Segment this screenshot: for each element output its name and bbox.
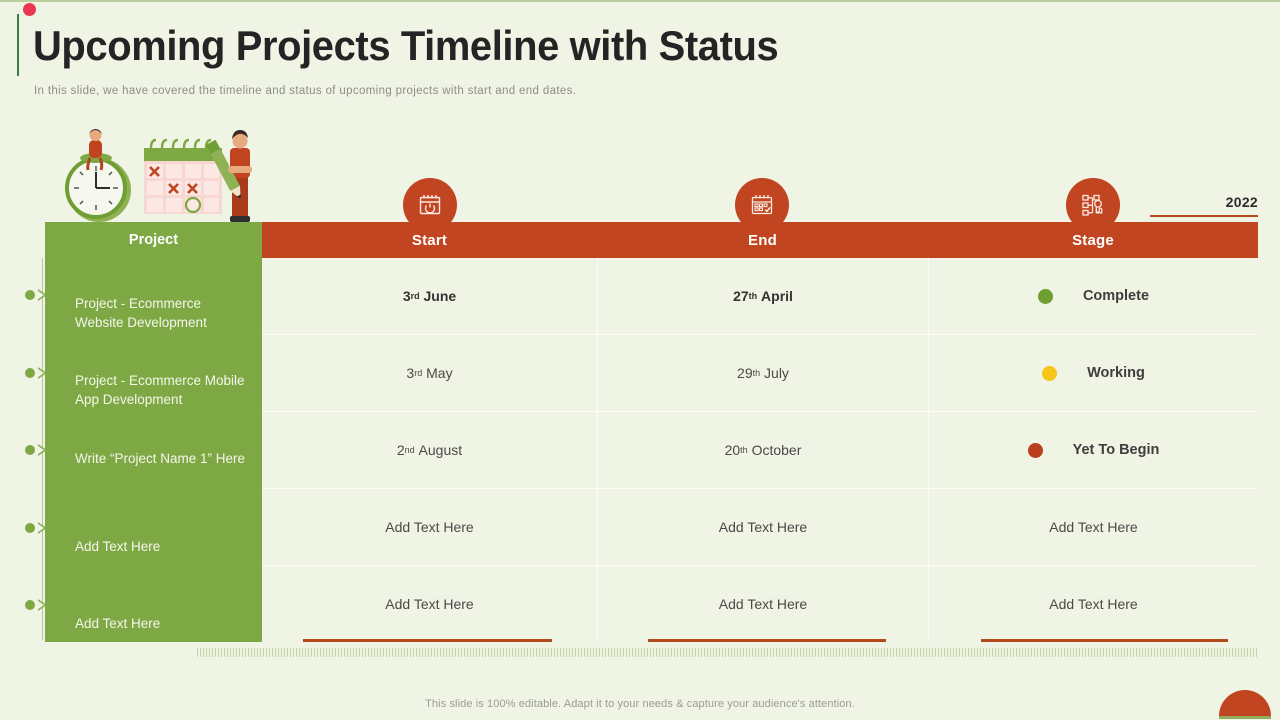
- end-date-cell[interactable]: 29th July: [598, 335, 928, 411]
- start-day: 3: [406, 365, 414, 381]
- column-header-end: End: [597, 222, 928, 258]
- stage-cell[interactable]: Complete: [929, 258, 1258, 334]
- play-triangle-icon: [38, 289, 47, 301]
- timeline-node-dot: [25, 523, 35, 533]
- calendar-clock-people-illustration: [60, 122, 270, 226]
- table-body-grid: 3rd June 3rd May 2nd August Add Text Her…: [262, 258, 1258, 642]
- stage-column-underline: [981, 639, 1228, 642]
- stage-label: Yet To Begin: [1073, 442, 1160, 458]
- timeline-node-dot: [25, 368, 35, 378]
- end-day: 20: [725, 442, 741, 458]
- column-header-project-label: Project: [129, 232, 178, 248]
- project-name-cell[interactable]: Write “Project Name 1” Here: [75, 449, 250, 468]
- start-date-cell[interactable]: Add Text Here: [262, 566, 597, 642]
- status-dot-yet-to-begin: [1028, 443, 1043, 458]
- end-day: 29: [737, 365, 753, 381]
- column-header-project: Project: [45, 222, 262, 259]
- end-column-underline: [648, 639, 886, 642]
- start-month: June: [424, 288, 457, 304]
- status-dot-working: [1042, 366, 1057, 381]
- column-header-end-label: End: [748, 232, 777, 249]
- project-column: Project - Ecommerce Website Development …: [45, 258, 262, 642]
- stage-label: Add Text Here: [1049, 519, 1137, 535]
- end-date-cell[interactable]: 20th October: [598, 412, 928, 488]
- project-name-cell[interactable]: Add Text Here: [75, 537, 250, 556]
- project-name-cell[interactable]: Add Text Here: [75, 614, 250, 633]
- timeline-node[interactable]: [25, 521, 59, 535]
- column-header-start-label: Start: [412, 232, 447, 249]
- top-divider: [0, 0, 1280, 2]
- end-day: 27: [733, 288, 749, 304]
- start-date-cell[interactable]: Add Text Here: [262, 489, 597, 565]
- project-name-cell[interactable]: Project - Ecommerce Website Development: [75, 294, 250, 332]
- column-header-stage-label: Stage: [1072, 232, 1114, 249]
- timeline-node-dot: [25, 600, 35, 610]
- hatched-band: [197, 648, 1258, 657]
- timeline-node-dot: [25, 290, 35, 300]
- footer-note: This slide is 100% editable. Adapt it to…: [0, 698, 1280, 710]
- decorative-dome-base: [1219, 716, 1271, 719]
- stage-cell[interactable]: Add Text Here: [929, 566, 1258, 642]
- status-dot-complete: [1038, 289, 1053, 304]
- end-date-cell[interactable]: 27th April: [598, 258, 928, 334]
- year-label: 2022: [1226, 194, 1258, 210]
- year-underline: [1150, 215, 1258, 217]
- project-name-cell[interactable]: Project - Ecommerce Mobile App Developme…: [75, 371, 250, 409]
- timeline-node[interactable]: [25, 288, 59, 302]
- timeline-node[interactable]: [25, 598, 59, 612]
- stage-cell[interactable]: Working: [929, 335, 1258, 411]
- stage-cell[interactable]: Add Text Here: [929, 489, 1258, 565]
- play-triangle-icon: [38, 522, 47, 534]
- end-month: October: [752, 442, 802, 458]
- end-month: July: [764, 365, 789, 381]
- page-title: Upcoming Projects Timeline with Status: [33, 21, 778, 71]
- play-triangle-icon: [38, 444, 47, 456]
- timeline-node-dot: [25, 445, 35, 455]
- projects-timeline-table: Project: [45, 222, 1258, 642]
- play-triangle-icon: [38, 599, 47, 611]
- title-accent-bar: [17, 14, 19, 76]
- end-date-cell[interactable]: Add Text Here: [598, 566, 928, 642]
- decorative-dome: [1219, 690, 1271, 716]
- column-header-stage: Stage: [928, 222, 1258, 258]
- stage-label: Working: [1087, 365, 1145, 381]
- slide-canvas: Upcoming Projects Timeline with Status I…: [0, 0, 1280, 720]
- timeline-node[interactable]: [25, 443, 59, 457]
- timeline-node[interactable]: [25, 366, 59, 380]
- stage-label: Add Text Here: [1049, 596, 1137, 612]
- play-triangle-icon: [38, 367, 47, 379]
- page-subtitle: In this slide, we have covered the timel…: [34, 85, 576, 97]
- start-month: May: [426, 365, 452, 381]
- start-date-cell[interactable]: 3rd May: [262, 335, 597, 411]
- start-month: August: [419, 442, 463, 458]
- end-month: April: [761, 288, 793, 304]
- start-date-cell[interactable]: 2nd August: [262, 412, 597, 488]
- start-column-underline: [303, 639, 552, 642]
- stage-label: Complete: [1083, 288, 1149, 304]
- start-day: 2: [397, 442, 405, 458]
- end-date-cell[interactable]: Add Text Here: [598, 489, 928, 565]
- decorative-red-dot: [23, 3, 36, 16]
- column-header-start: Start: [262, 222, 597, 258]
- stage-cell[interactable]: Yet To Begin: [929, 412, 1258, 488]
- start-day: 3: [403, 288, 411, 304]
- start-date-cell[interactable]: 3rd June: [262, 258, 597, 334]
